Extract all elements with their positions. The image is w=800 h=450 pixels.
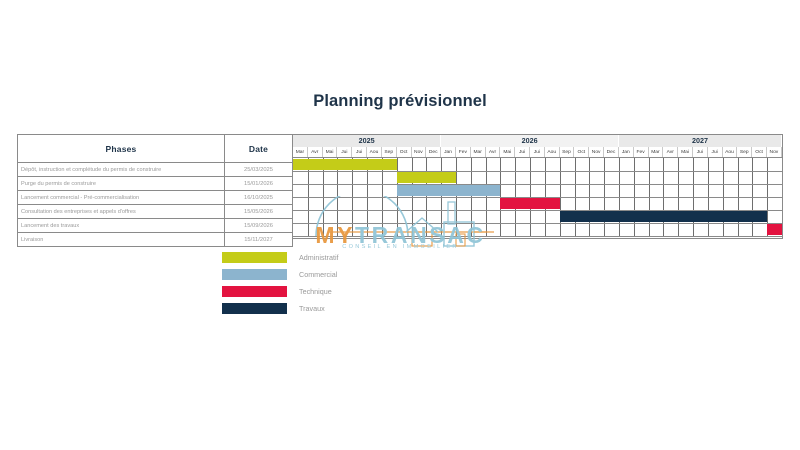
grid-horizontal-line [293,236,782,237]
timeline-month-cell: Dec [604,147,619,157]
legend-label: Commercial [299,270,337,279]
timeline-month-cell: Oct [397,147,412,157]
timeline-month-cell: Fev [634,147,649,157]
timeline-month-cell: Sep [382,147,397,157]
timeline-month-cell: Dec [426,147,441,157]
table-row: Dépôt, instruction et complétude du perm… [18,163,293,177]
grid-horizontal-line [293,171,782,172]
table-row: Purge du permis de construire15/01/2026 [18,177,293,191]
timeline-month-cell: Nov [412,147,427,157]
legend-item: Commercial [222,266,482,282]
timeline-year-row: 202520262027 [293,135,782,147]
grid-horizontal-line [293,184,782,185]
column-header-date: Date [225,135,293,163]
timeline-month-cell: Jan [441,147,456,157]
timeline-month-cell: Sep [560,147,575,157]
legend-label: Administratif [299,253,339,262]
phase-label: Consultation des entreprises et appels d… [18,205,225,219]
timeline-month-cell: Avr [486,147,501,157]
timeline-month-cell: Oct [574,147,589,157]
timeline-month-cell: Jui [352,147,367,157]
timeline-month-cell: Mar [293,147,308,157]
timeline-month-cell: Fev [456,147,471,157]
timeline-month-cell: Aou [723,147,738,157]
timeline-month-cell: Jan [619,147,634,157]
gantt-bar [293,159,397,170]
legend-item: Travaux [222,300,482,316]
timeline-month-cell: Aou [545,147,560,157]
timeline-month-row: MarAvrMaiJuiJuiAouSepOctNovDecJanFevMarA… [293,147,782,158]
table-header-row: Phases Date [18,135,293,163]
phase-date: 15/05/2026 [225,205,293,219]
legend: AdministratifCommercialTechniqueTravaux [222,249,482,317]
timeline-month-cell: Jui [708,147,723,157]
phase-label: Livraison [18,233,225,247]
timeline-month-cell: Mar [471,147,486,157]
phase-date: 16/10/2025 [225,191,293,205]
timeline-month-cell: Mar [649,147,664,157]
table-row: Consultation des entreprises et appels d… [18,205,293,219]
phase-label: Dépôt, instruction et complétude du perm… [18,163,225,177]
column-header-phases: Phases [18,135,225,163]
timeline-panel: 202520262027 MarAvrMaiJuiJuiAouSepOctNov… [293,134,783,239]
timeline-month-cell: Avr [663,147,678,157]
phase-label: Lancement des travaux [18,219,225,233]
timeline-year-2027: 2027 [619,135,782,147]
table-row: Lancement commercial - Pré-commercialisa… [18,191,293,205]
timeline-month-cell: Avr [308,147,323,157]
phase-date: 25/03/2025 [225,163,293,177]
gantt-bar [767,224,782,235]
timeline-month-cell: Mai [323,147,338,157]
phase-date: 15/11/2027 [225,233,293,247]
gantt-chart: Phases Date Dépôt, instruction et complé… [17,134,783,239]
phase-label: Purge du permis de construire [18,177,225,191]
legend-label: Technique [299,287,332,296]
timeline-month-cell: Sep [737,147,752,157]
legend-swatch [222,269,287,280]
legend-swatch [222,252,287,263]
timeline-month-cell: Nov [767,147,782,157]
gantt-bar [397,172,456,183]
timeline-month-cell: Mai [500,147,515,157]
timeline-month-cell: Oct [752,147,767,157]
timeline-month-cell: Aou [367,147,382,157]
timeline-month-cell: Nov [589,147,604,157]
timeline-month-cell: Jui [693,147,708,157]
legend-item: Technique [222,283,482,299]
gantt-bar [500,198,559,209]
phases-table-body: Dépôt, instruction et complétude du perm… [18,163,293,247]
gantt-bars-area [293,158,782,236]
timeline-month-cell: Mai [678,147,693,157]
table-row: Lancement des travaux15/09/2026 [18,219,293,233]
legend-item: Administratif [222,249,482,265]
timeline-year-2026: 2026 [441,135,619,147]
slide-canvas: Planning prévisionnel Phases Date Dépôt,… [0,0,800,450]
timeline-month-cell: Jui [337,147,352,157]
timeline-year-2025: 2025 [293,135,441,147]
phase-date: 15/01/2026 [225,177,293,191]
gantt-bar [397,185,501,196]
gantt-bar [560,211,767,222]
gantt-grid: Phases Date Dépôt, instruction et complé… [17,134,783,239]
phase-label: Lancement commercial - Pré-commercialisa… [18,191,225,205]
timeline-month-cell: Jui [530,147,545,157]
grid-horizontal-line [293,223,782,224]
legend-swatch [222,286,287,297]
timeline-month-cell: Jui [515,147,530,157]
page-title: Planning prévisionnel [0,92,800,111]
legend-label: Travaux [299,304,325,313]
phases-table: Phases Date Dépôt, instruction et complé… [17,134,293,247]
phase-date: 15/09/2026 [225,219,293,233]
table-row: Livraison15/11/2027 [18,233,293,247]
legend-swatch [222,303,287,314]
